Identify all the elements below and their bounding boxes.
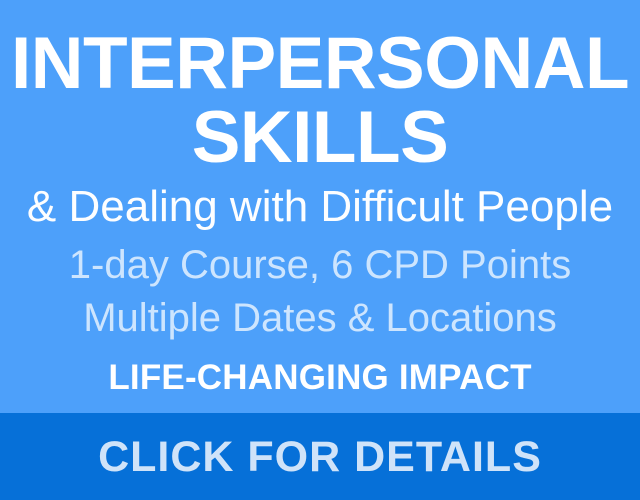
detail-line-dates-locations: Multiple Dates & Locations (0, 292, 640, 345)
headline-line-2: SKILLS (0, 100, 640, 176)
cta-button[interactable]: CLICK FOR DETAILS (0, 413, 640, 500)
subheadline: & Dealing with Difficult People (0, 182, 640, 232)
cta-button-label: CLICK FOR DETAILS (98, 433, 542, 481)
detail-line-course-info: 1-day Course, 6 CPD Points (0, 239, 640, 292)
impact-statement: LIFE-CHANGING IMPACT (0, 358, 640, 398)
advertisement-banner[interactable]: INTERPERSONAL SKILLS & Dealing with Diff… (0, 0, 640, 500)
banner-content: INTERPERSONAL SKILLS & Dealing with Diff… (0, 0, 640, 413)
headline-line-1: INTERPERSONAL (0, 26, 640, 102)
